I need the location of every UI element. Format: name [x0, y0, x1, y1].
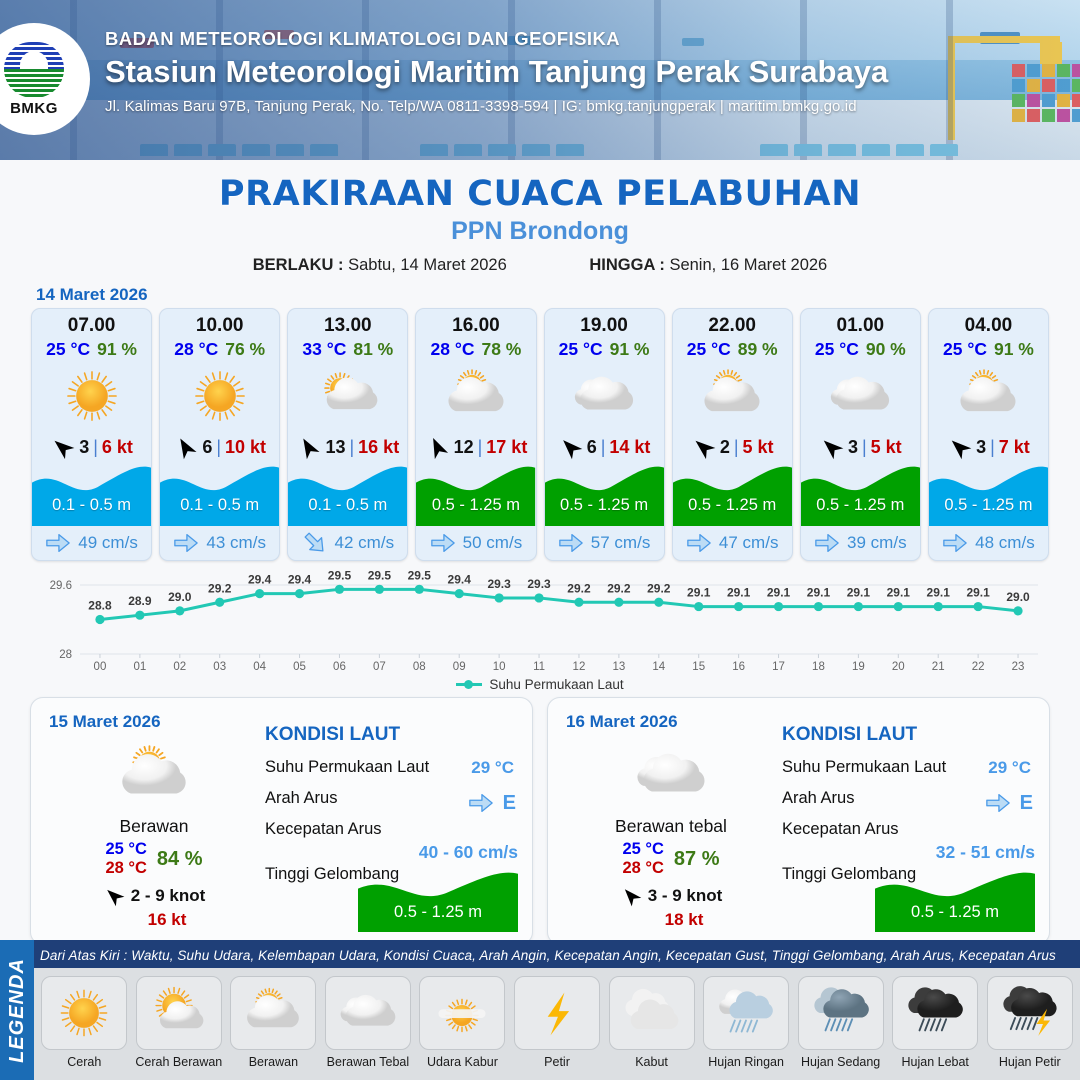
chart-point-label: 28.9: [128, 594, 152, 608]
wind-direction-arrow-icon: [173, 435, 198, 460]
wind-direction-arrow-icon: [50, 435, 75, 460]
sunny-weather-icon: [53, 982, 115, 1044]
card-air-temperature: 25 °C: [687, 339, 731, 359]
legend-item: Berawan Tebal: [324, 976, 413, 1069]
card-wind-direction: 12: [454, 437, 474, 458]
legend-item: Hujan Lebat: [891, 976, 980, 1069]
card-wind-speed: 16 kt: [358, 437, 399, 458]
legend-item-label: Berawan: [249, 1055, 298, 1069]
card-time: 16.00: [416, 309, 535, 337]
daily-wave-badge: 0.5 - 1.25 m: [358, 870, 518, 932]
card-wind-speed: 10 kt: [225, 437, 266, 458]
chart-point-label: 29.1: [966, 586, 990, 600]
title-block: PRAKIRAAN CUACA PELABUHAN PPN Brondong B…: [0, 160, 1080, 275]
current-direction-arrow-icon: [942, 530, 968, 556]
legend-item: Kabut: [607, 976, 696, 1069]
card-wind-direction: 6: [587, 437, 597, 458]
card-current-row: 43 cm/s: [160, 526, 279, 560]
lightning-weather-icon: [526, 982, 588, 1044]
cloud-weather-icon: [827, 363, 893, 429]
card-wind-speed: 5 kt: [743, 437, 774, 458]
card-temp-humidity-row: 25 °C91 %: [545, 339, 664, 360]
legend-item-label: Berawan Tebal: [327, 1055, 409, 1069]
valid-until-label: HINGGA :: [589, 256, 664, 274]
daily-forecast-row: 15 Maret 2026Berawan25 °C28 °C84 %2 - 9 …: [0, 692, 1080, 945]
card-wind-row: 2|5 kt: [673, 432, 792, 462]
chart-xtick-label: 12: [573, 661, 586, 673]
card-wind-speed: 14 kt: [609, 437, 650, 458]
chart-point-label: 29.2: [567, 581, 591, 595]
valid-from-value: Sabtu, 14 Maret 2026: [348, 256, 507, 274]
card-wave-height: 0.1 - 0.5 m: [288, 496, 407, 515]
legend-item: Hujan Petir: [985, 976, 1074, 1069]
sst-row: Suhu Permukaan Laut29 °C: [265, 758, 518, 777]
card-air-temperature: 25 °C: [815, 339, 859, 359]
legend-item: Cerah Berawan: [135, 976, 224, 1069]
card-wave-height: 0.5 - 1.25 m: [416, 496, 535, 515]
chart-xtick-label: 11: [533, 661, 545, 673]
card-current-row: 47 cm/s: [673, 526, 792, 560]
card-weather-icon-wrap: [801, 360, 920, 432]
card-wind-row: 6|14 kt: [545, 432, 664, 462]
card-wind-speed: 5 kt: [871, 437, 902, 458]
cloud-weather-icon: [337, 982, 399, 1044]
light-rain-weather-icon: [715, 982, 777, 1044]
current-direction-arrow-icon: [45, 530, 71, 556]
wave-height-band: [545, 464, 664, 526]
chart-point-label: 29.5: [408, 571, 432, 582]
current-direction-row: Arah ArusE: [265, 789, 518, 808]
chart-ytick-label: 28: [59, 649, 72, 661]
legend-side-strip: LEGENDA: [0, 940, 34, 1080]
daily-panel-right: KONDISI LAUTSuhu Permukaan Laut29 °CArah…: [259, 712, 518, 934]
legend-icon-box: [325, 976, 411, 1050]
chart-data-point: [95, 615, 104, 624]
legend-icon-box: [514, 976, 600, 1050]
card-wind-separator: |: [862, 437, 867, 458]
chart-xtick-label: 17: [772, 661, 785, 673]
daily-humidity: 84 %: [157, 848, 203, 871]
legend-item: Hujan Sedang: [796, 976, 885, 1069]
thunderstorm-weather-icon: [999, 982, 1061, 1044]
daily-panel-right: KONDISI LAUTSuhu Permukaan Laut29 °CArah…: [776, 712, 1035, 934]
daily-temp-min: 25 °C: [622, 840, 663, 859]
card-wind-separator: |: [349, 437, 354, 458]
card-humidity: 90 %: [866, 339, 906, 359]
card-wave-section: 0.1 - 0.5 m: [160, 464, 279, 526]
card-humidity: 91 %: [610, 339, 650, 359]
card-weather-icon-wrap: [160, 360, 279, 432]
current-direction-label: Arah Arus: [782, 789, 854, 807]
current-speed-value: 40 - 60 cm/s: [419, 842, 518, 863]
card-wind-speed: 17 kt: [486, 437, 527, 458]
chart-series-line: [100, 589, 1018, 619]
card-wave-height: 0.5 - 1.25 m: [545, 496, 664, 515]
wind-direction-arrow-icon: [558, 435, 583, 460]
card-wave-height: 0.1 - 0.5 m: [32, 496, 151, 515]
daily-forecast-panel[interactable]: 16 Maret 2026Berawan tebal25 °C28 °C87 %…: [547, 697, 1050, 945]
current-direction-arrow-icon: [173, 530, 199, 556]
daily-temp-range: 25 °C28 °C: [105, 840, 146, 879]
card-weather-icon-wrap: [288, 360, 407, 432]
card-time: 04.00: [929, 309, 1048, 337]
card-current-speed: 49 cm/s: [78, 533, 138, 553]
station-address: Jl. Kalimas Baru 97B, Tanjung Perak, No.…: [105, 98, 888, 115]
card-wave-section: 0.1 - 0.5 m: [32, 464, 151, 526]
daily-forecast-panel[interactable]: 15 Maret 2026Berawan25 °C28 °C84 %2 - 9 …: [30, 697, 533, 945]
legend-icon-box: [798, 976, 884, 1050]
card-weather-icon-wrap: [929, 360, 1048, 432]
bmkg-logo-mark: [2, 42, 66, 98]
card-wave-section: 0.5 - 1.25 m: [416, 464, 535, 526]
card-time: 10.00: [160, 309, 279, 337]
hourly-forecast-card[interactable]: 01.0025 °C90 %3|5 kt0.5 - 1.25 m39 cm/s: [800, 308, 921, 561]
card-wave-section: 0.1 - 0.5 m: [288, 464, 407, 526]
legend-item-label: Kabut: [635, 1055, 668, 1069]
daily-panel-left: 16 Maret 2026Berawan tebal25 °C28 °C87 %…: [566, 712, 776, 934]
chart-data-point: [734, 602, 743, 611]
legend-icon-box: [703, 976, 789, 1050]
card-weather-icon-wrap: [545, 360, 664, 432]
chart-data-point: [295, 589, 304, 598]
wave-height-band: [929, 464, 1048, 526]
sst-chart-canvas: 29.6280001020304050607080910111213141516…: [30, 571, 1050, 676]
chart-point-label: 29.1: [687, 586, 711, 600]
hourly-forecast-card[interactable]: 04.0025 °C91 %3|7 kt0.5 - 1.25 m48 cm/s: [928, 308, 1049, 561]
chart-point-label: 29.3: [527, 577, 551, 591]
card-air-temperature: 25 °C: [943, 339, 987, 359]
card-wave-section: 0.5 - 1.25 m: [545, 464, 664, 526]
wave-height-band: [160, 464, 279, 526]
card-wind-row: 3|6 kt: [32, 432, 151, 462]
legend-item-label: Cerah Berawan: [135, 1055, 222, 1069]
cloudy-sun-weather-icon: [443, 363, 509, 429]
daily-wind-range: 2 - 9 knot: [131, 886, 206, 906]
legend-icon-box: [230, 976, 316, 1050]
daily-humidity: 87 %: [674, 848, 720, 871]
chart-point-label: 29.0: [1006, 590, 1030, 604]
chart-xtick-label: 01: [133, 661, 146, 673]
card-current-row: 57 cm/s: [545, 526, 664, 560]
current-direction-arrow-icon: [430, 530, 456, 556]
card-air-temperature: 28 °C: [431, 339, 475, 359]
sea-conditions-title: KONDISI LAUT: [782, 724, 1035, 746]
cloud-weather-icon: [633, 738, 709, 814]
card-humidity: 89 %: [738, 339, 778, 359]
card-temp-humidity-row: 25 °C91 %: [929, 339, 1048, 360]
card-wind-row: 6|10 kt: [160, 432, 279, 462]
agency-name: BADAN METEOROLOGI KLIMATOLOGI DAN GEOFIS…: [105, 28, 888, 50]
card-wind-direction: 13: [325, 437, 345, 458]
chart-xtick-label: 08: [413, 661, 426, 673]
current-direction-arrow-icon: [814, 530, 840, 556]
chart-data-point: [814, 602, 823, 611]
card-time: 13.00: [288, 309, 407, 337]
card-wave-height: 0.5 - 1.25 m: [673, 496, 792, 515]
chart-xtick-label: 15: [692, 661, 705, 673]
card-wave-height: 0.5 - 1.25 m: [801, 496, 920, 515]
daily-temp-humidity: 25 °C28 °C87 %: [566, 840, 776, 879]
daily-wind-range: 3 - 9 knot: [648, 886, 723, 906]
legend-item: Udara Kabur: [418, 976, 507, 1069]
legend-item: Cerah: [40, 976, 129, 1069]
wave-height-band: [288, 464, 407, 526]
wave-height-band: [32, 464, 151, 526]
daily-date: 15 Maret 2026: [49, 712, 259, 732]
daily-temp-range: 25 °C28 °C: [622, 840, 663, 879]
valid-from-label: BERLAKU :: [253, 256, 344, 274]
current-direction-arrow-icon: [302, 530, 328, 556]
card-air-temperature: 28 °C: [174, 339, 218, 359]
current-speed-label: Kecepatan Arus: [782, 820, 899, 838]
chart-xtick-label: 04: [253, 661, 266, 673]
wave-height-band: [801, 464, 920, 526]
card-current-row: 48 cm/s: [929, 526, 1048, 560]
chart-data-point: [974, 602, 983, 611]
card-wind-direction: 3: [848, 437, 858, 458]
card-current-speed: 47 cm/s: [719, 533, 779, 553]
card-wind-direction: 6: [202, 437, 212, 458]
chart-xtick-label: 06: [333, 661, 346, 673]
daily-date: 16 Maret 2026: [566, 712, 776, 732]
daily-condition: Berawan: [49, 816, 259, 837]
card-current-row: 49 cm/s: [32, 526, 151, 560]
daily-gust: 18 kt: [566, 910, 776, 930]
chart-data-point: [335, 585, 344, 594]
sst-row: Suhu Permukaan Laut29 °C: [782, 758, 1035, 777]
hourly-forecast-card[interactable]: 07.0025 °C91 %3|6 kt0.1 - 0.5 m49 cm/s: [31, 308, 152, 561]
card-temp-humidity-row: 25 °C89 %: [673, 339, 792, 360]
chart-xtick-label: 21: [932, 661, 945, 673]
chart-data-point: [534, 593, 543, 602]
card-wind-separator: |: [478, 437, 483, 458]
card-humidity: 76 %: [225, 339, 265, 359]
wave-height-band: [673, 464, 792, 526]
legend-item: Petir: [513, 976, 602, 1069]
chart-xtick-label: 03: [213, 661, 226, 673]
page-header: BMKG BADAN METEOROLOGI KLIMATOLOGI DAN G…: [0, 0, 1080, 160]
chart-data-point: [694, 602, 703, 611]
card-air-temperature: 25 °C: [46, 339, 90, 359]
validity-row: BERLAKU : Sabtu, 14 Maret 2026 HINGGA : …: [0, 256, 1080, 275]
chart-data-point: [255, 589, 264, 598]
chart-data-point: [894, 602, 903, 611]
station-name: Stasiun Meteorologi Maritim Tanjung Pera…: [105, 54, 888, 90]
sunny-weather-icon: [59, 363, 125, 429]
chart-legend-label: Suhu Permukaan Laut: [489, 677, 623, 692]
daily-panel-left: 15 Maret 2026Berawan25 °C28 °C84 %2 - 9 …: [49, 712, 259, 934]
chart-point-label: 29.5: [328, 571, 352, 582]
chart-xtick-label: 16: [732, 661, 745, 673]
card-humidity: 91 %: [994, 339, 1034, 359]
card-weather-icon-wrap: [32, 360, 151, 432]
fog-weather-icon: [621, 982, 683, 1044]
chart-data-point: [415, 585, 424, 594]
chart-data-point: [175, 606, 184, 615]
card-time: 22.00: [673, 309, 792, 337]
card-air-temperature: 25 °C: [559, 339, 603, 359]
chart-xtick-label: 10: [493, 661, 506, 673]
legend-items-row: CerahCerah BerawanBerawanBerawan TebalUd…: [34, 968, 1080, 1080]
page-title: PRAKIRAAN CUACA PELABUHAN: [0, 174, 1080, 214]
card-temp-humidity-row: 25 °C90 %: [801, 339, 920, 360]
chart-point-label: 29.4: [288, 573, 312, 587]
sst-value: 29 °C: [988, 758, 1031, 778]
card-wind-separator: |: [93, 437, 98, 458]
chart-point-label: 29.1: [767, 586, 791, 600]
chart-data-point: [215, 598, 224, 607]
chart-xtick-label: 00: [94, 661, 107, 673]
wind-direction-arrow-icon: [819, 435, 844, 460]
card-wave-height: 0.5 - 1.25 m: [929, 496, 1048, 515]
daily-temp-min: 25 °C: [105, 840, 146, 859]
daily-weather-icon-wrap: [49, 738, 259, 814]
chart-xtick-label: 14: [652, 661, 665, 673]
card-current-speed: 43 cm/s: [206, 533, 266, 553]
chart-point-label: 29.5: [368, 571, 392, 582]
chart-data-point: [774, 602, 783, 611]
card-wave-height: 0.1 - 0.5 m: [160, 496, 279, 515]
current-direction-arrow-icon: [985, 790, 1011, 816]
chart-xtick-label: 09: [453, 661, 466, 673]
chart-legend-marker-icon: [456, 679, 482, 690]
legend-item: Hujan Ringan: [702, 976, 791, 1069]
hourly-forecast-card[interactable]: 19.0025 °C91 %6|14 kt0.5 - 1.25 m57 cm/s: [544, 308, 665, 561]
chart-point-label: 29.1: [807, 586, 831, 600]
daily-gust: 16 kt: [49, 910, 259, 930]
chart-xtick-label: 22: [972, 661, 985, 673]
hourly-forecast-card[interactable]: 13.0033 °C81 %13|16 kt0.1 - 0.5 m42 cm/s: [287, 308, 408, 561]
chart-point-label: 29.4: [448, 573, 472, 587]
current-direction-arrow-icon: [468, 790, 494, 816]
card-wave-section: 0.5 - 1.25 m: [801, 464, 920, 526]
current-direction-label: Arah Arus: [265, 789, 337, 807]
legend-item-label: Petir: [544, 1055, 570, 1069]
sst-chart: 29.6280001020304050607080910111213141516…: [30, 571, 1050, 676]
chart-data-point: [495, 593, 504, 602]
chart-point-label: 29.1: [887, 586, 911, 600]
card-wind-direction: 3: [79, 437, 89, 458]
sst-value: 29 °C: [471, 758, 514, 778]
daily-weather-icon-wrap: [566, 738, 776, 814]
legend-icon-box: [987, 976, 1073, 1050]
chart-legend: Suhu Permukaan Laut: [0, 677, 1080, 692]
current-speed-row: Kecepatan Arus40 - 60 cm/s: [265, 820, 518, 839]
current-direction-arrow-icon: [558, 530, 584, 556]
chart-xtick-label: 07: [373, 661, 386, 673]
bmkg-logo-text: BMKG: [10, 100, 58, 117]
current-speed-value: 32 - 51 cm/s: [936, 842, 1035, 863]
logo-land-bars: [4, 69, 64, 98]
legend-item-label: Udara Kabur: [427, 1055, 498, 1069]
chart-point-label: 29.3: [487, 577, 511, 591]
daily-wave-height-value: 0.5 - 1.25 m: [358, 903, 518, 922]
card-current-speed: 50 cm/s: [463, 533, 523, 553]
wave-height-band: [358, 870, 518, 932]
card-current-speed: 39 cm/s: [847, 533, 907, 553]
hourly-forecast-card[interactable]: 10.0028 °C76 %6|10 kt0.1 - 0.5 m43 cm/s: [159, 308, 280, 561]
chart-xtick-label: 19: [852, 661, 865, 673]
cloudy-sun-weather-icon: [242, 982, 304, 1044]
current-direction-value: E: [503, 792, 516, 815]
legend-icon-box: [136, 976, 222, 1050]
card-wind-direction: 3: [976, 437, 986, 458]
sea-conditions-title: KONDISI LAUT: [265, 724, 518, 746]
valid-until-value: Senin, 16 Maret 2026: [669, 256, 827, 274]
chart-point-label: 29.1: [927, 586, 951, 600]
card-wind-speed: 6 kt: [102, 437, 133, 458]
card-humidity: 91 %: [97, 339, 137, 359]
wave-height-band: [416, 464, 535, 526]
wind-direction-arrow-icon: [425, 435, 450, 460]
legend-item-label: Cerah: [67, 1055, 101, 1069]
chart-point-label: 29.1: [847, 586, 871, 600]
chart-data-point: [574, 598, 583, 607]
sunny-weather-icon: [187, 363, 253, 429]
haze-weather-icon: [431, 982, 493, 1044]
card-time: 07.00: [32, 309, 151, 337]
chart-point-label: 29.2: [647, 581, 671, 595]
cloudy-sun-weather-icon: [955, 363, 1021, 429]
chart-ytick-label: 29.6: [50, 580, 72, 592]
card-temp-humidity-row: 28 °C76 %: [160, 339, 279, 360]
chart-point-label: 29.2: [208, 581, 232, 595]
wind-direction-arrow-icon: [296, 435, 321, 460]
current-direction-row: Arah ArusE: [782, 789, 1035, 808]
chart-point-label: 29.4: [248, 573, 272, 587]
card-humidity: 78 %: [481, 339, 521, 359]
card-wind-separator: |: [601, 437, 606, 458]
card-current-row: 39 cm/s: [801, 526, 920, 560]
cloudy-sun-weather-icon: [116, 738, 192, 814]
daily-wave-height-value: 0.5 - 1.25 m: [875, 903, 1035, 922]
chart-data-point: [854, 602, 863, 611]
chart-data-point: [455, 589, 464, 598]
chart-data-point: [375, 585, 384, 594]
hourly-forecast-card[interactable]: 16.0028 °C78 %12|17 kt0.5 - 1.25 m50 cm/…: [415, 308, 536, 561]
chart-xtick-label: 13: [612, 661, 625, 673]
chart-xtick-label: 05: [293, 661, 306, 673]
card-wind-row: 3|7 kt: [929, 432, 1048, 462]
card-air-temperature: 33 °C: [302, 339, 346, 359]
legend-item-label: Hujan Ringan: [708, 1055, 784, 1069]
chart-xtick-label: 02: [173, 661, 186, 673]
card-humidity: 81 %: [353, 339, 393, 359]
card-time: 01.00: [801, 309, 920, 337]
card-wind-separator: |: [216, 437, 221, 458]
card-current-row: 42 cm/s: [288, 526, 407, 560]
chart-point-label: 29.0: [168, 590, 192, 604]
wave-height-band: [875, 870, 1035, 932]
heavy-rain-weather-icon: [904, 982, 966, 1044]
card-wind-speed: 7 kt: [999, 437, 1030, 458]
wind-direction-arrow-icon: [620, 885, 642, 907]
hourly-forecast-card[interactable]: 22.0025 °C89 %2|5 kt0.5 - 1.25 m47 cm/s: [672, 308, 793, 561]
current-direction-arrow-icon: [686, 530, 712, 556]
card-wave-section: 0.5 - 1.25 m: [929, 464, 1048, 526]
wind-direction-arrow-icon: [947, 435, 972, 460]
cloudy-sun-weather-icon: [699, 363, 765, 429]
legend-icon-box: [892, 976, 978, 1050]
card-weather-icon-wrap: [673, 360, 792, 432]
legend-item-label: Hujan Sedang: [801, 1055, 880, 1069]
chart-xtick-label: 20: [892, 661, 905, 673]
chart-point-label: 29.2: [607, 581, 631, 595]
legend-icon-box: [609, 976, 695, 1050]
daily-wind-row: 2 - 9 knot: [49, 885, 259, 907]
chart-point-label: 28.8: [88, 599, 112, 613]
moderate-rain-weather-icon: [810, 982, 872, 1044]
